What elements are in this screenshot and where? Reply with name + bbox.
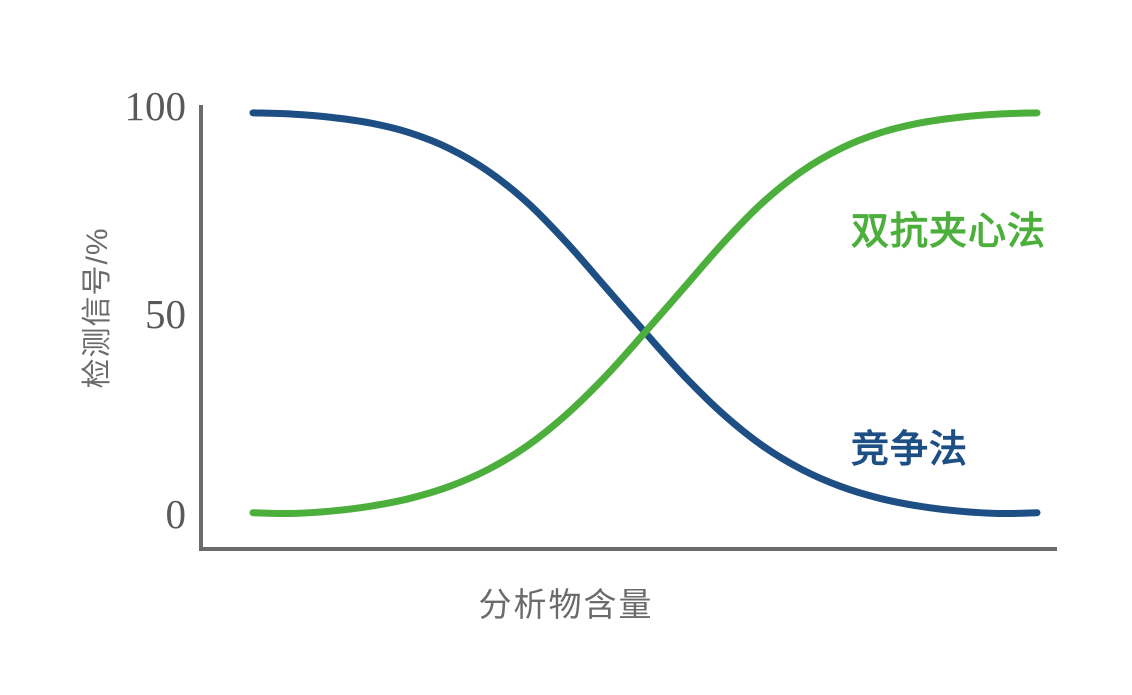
- x-axis-title: 分析物含量: [0, 578, 1132, 626]
- y-axis-title: 检测信号/%: [72, 178, 116, 438]
- series-label-competitive: 竞争法: [851, 418, 968, 473]
- y-tick-label-100: 100: [66, 86, 186, 127]
- y-tick-label-0: 0: [66, 494, 186, 535]
- series-label-sandwich: 双抗夹心法: [851, 200, 1046, 255]
- chart-figure: 100 50 0 检测信号/% 分析物含量 双抗夹心法 竞争法: [0, 0, 1132, 695]
